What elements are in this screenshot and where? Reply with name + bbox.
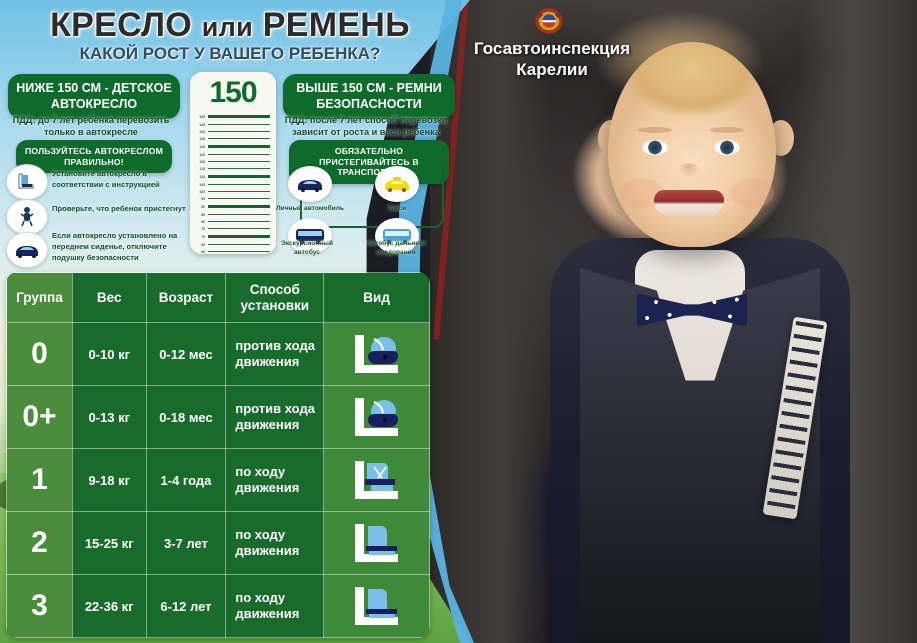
- cell-install: против хода движения: [226, 323, 324, 386]
- column-header-age: Возраст: [146, 273, 226, 323]
- ruler-ticks: 150 145 140 135 130 125 120 115 110 105 …: [190, 112, 276, 254]
- ruler-tick-label: 145: [196, 123, 205, 127]
- cell-group: 0: [7, 323, 73, 386]
- column-header-weight: Вес: [72, 273, 146, 323]
- child-brow-left: [638, 127, 672, 133]
- child-cheek-right: [730, 178, 774, 208]
- ruler-tick-label: 65: [196, 243, 205, 247]
- cell-view: [324, 323, 430, 386]
- ruler-tick-label: 130: [196, 145, 205, 149]
- ruler-value: 150: [190, 76, 276, 110]
- table-row: 3 22-36 кг 6-12 лет по ходу движения: [7, 575, 430, 638]
- ruler-tick-label: 110: [196, 175, 205, 179]
- ruler-tick-label: 60: [196, 250, 205, 254]
- height-ruler: 150 150 145 140 135 130 125 120 115 110 …: [190, 72, 276, 254]
- car-icon: [288, 166, 332, 202]
- left-headline-box: НИЖЕ 150 СМ - ДЕТСКОЕ АВТОКРЕСЛО: [8, 74, 180, 119]
- bullet-text-3: Если автокресло установлено на переднем …: [52, 230, 187, 263]
- cell-group: 1: [7, 449, 73, 512]
- cell-group: 0+: [7, 386, 73, 449]
- gibdd-emblem: [532, 4, 566, 38]
- buckled-child-icon: [6, 199, 48, 235]
- ruler-tick-label: 85: [196, 213, 205, 217]
- cell-view: [324, 512, 430, 575]
- ruler-tick-label: 135: [196, 137, 205, 141]
- cell-age: 1-4 года: [146, 449, 226, 512]
- cell-view: [324, 449, 430, 512]
- title-conjunction: или: [202, 12, 253, 42]
- cell-view: [324, 386, 430, 449]
- table-row: 0+ 0-13 кг 0-18 мес против хода движения: [7, 386, 430, 449]
- cell-view: [324, 575, 430, 638]
- car-front-icon: [6, 232, 48, 268]
- bullet-text-2: Проверьте, что ребенок пристегнут: [52, 203, 187, 214]
- column-header-view: Вид: [324, 273, 430, 323]
- ruler-tick-label: 80: [196, 220, 205, 224]
- poster-root: Госавтоинспекция Карелии КРЕСЛО или РЕМЕ…: [0, 0, 917, 643]
- cell-weight: 0-13 кг: [72, 386, 146, 449]
- forward-facing-booster-highback-icon: [341, 581, 413, 631]
- cell-weight: 15-25 кг: [72, 512, 146, 575]
- ruler-tick-label: 70: [196, 235, 205, 239]
- cell-age: 0-18 мес: [146, 386, 226, 449]
- ruler-tick-label: 125: [196, 153, 205, 157]
- child-in-car-seat-photo: [430, 0, 917, 643]
- table-row: 0 0-10 кг 0-12 мес против хода движения: [7, 323, 430, 386]
- forward-facing-harness-seat-icon: [341, 455, 413, 505]
- child-brow-right: [710, 127, 744, 133]
- table-row: 2 15-25 кг 3-7 лет по ходу движения: [7, 512, 430, 575]
- cell-age: 6-12 лет: [146, 575, 226, 638]
- page-subtitle: КАКОЙ РОСТ У ВАШЕГО РЕБЕНКА?: [0, 44, 460, 64]
- ruler-tick-label: 140: [196, 130, 205, 134]
- agency-line-2: Карелии: [516, 60, 588, 79]
- ruler-tick-label: 150: [196, 115, 205, 119]
- cell-weight: 22-36 кг: [72, 575, 146, 638]
- child-mouth: [654, 190, 724, 216]
- car-seat-icon: [6, 164, 48, 200]
- cell-install: по ходу движения: [226, 512, 324, 575]
- vehicle-label-coach-bus: Автобус дальнего следования: [357, 240, 435, 258]
- ruler-tick-label: 100: [196, 190, 205, 194]
- title-part-1: КРЕСЛО: [50, 6, 192, 44]
- vehicle-label-car: Личный автомобиль: [271, 205, 349, 214]
- bullet-text-1: Установите автокресло в соответствии с и…: [52, 168, 187, 190]
- right-headline-box: ВЫШЕ 150 СМ - РЕМНИ БЕЗОПАСНОСТИ: [283, 74, 455, 119]
- taxi-icon: [375, 166, 419, 202]
- page-title: КРЕСЛО или РЕМЕНЬ: [0, 6, 460, 45]
- table-row: 1 9-18 кг 1-4 года по ходу движения: [7, 449, 430, 512]
- cell-age: 3-7 лет: [146, 512, 226, 575]
- rear-facing-infant-seat-icon: [341, 329, 413, 379]
- child-eye-left: [642, 140, 668, 155]
- ruler-tick-label: 120: [196, 160, 205, 164]
- cell-install: против хода движения: [226, 386, 324, 449]
- cell-weight: 9-18 кг: [72, 449, 146, 512]
- child-nose: [678, 163, 700, 177]
- cell-install: по ходу движения: [226, 449, 324, 512]
- ruler-tick-label: 75: [196, 227, 205, 231]
- ruler-tick-label: 105: [196, 183, 205, 187]
- agency-line-1: Госавтоинспекция: [474, 39, 630, 58]
- cell-group: 3: [7, 575, 73, 638]
- cell-age: 0-12 мес: [146, 323, 226, 386]
- cell-install: по ходу движения: [226, 575, 324, 638]
- ruler-tick-label: 90: [196, 205, 205, 209]
- agency-name: Госавтоинспекция Карелии: [452, 38, 652, 81]
- forward-facing-booster-highback-icon: [341, 518, 413, 568]
- vehicle-label-taxi: Такси: [358, 205, 436, 214]
- cell-group: 2: [7, 512, 73, 575]
- vehicle-label-tour-bus: Экскурсионный автобус: [268, 240, 346, 258]
- cell-weight: 0-10 кг: [72, 323, 146, 386]
- column-header-install: Способ установки: [226, 273, 324, 323]
- left-note: ПДД: до 7 лет ребенка перевозить только …: [6, 114, 176, 139]
- table-header-row: Группа Вес Возраст Способ установки Вид: [7, 273, 430, 323]
- ruler-tick-label: 115: [196, 167, 205, 171]
- child-eye-right: [714, 140, 740, 155]
- title-part-2: РЕМЕНЬ: [263, 6, 410, 44]
- right-note: ПДД: после 7 лет способ перевозки зависи…: [281, 114, 451, 139]
- ruler-tick-label: 95: [196, 197, 205, 201]
- child-restraint-table: Группа Вес Возраст Способ установки Вид …: [6, 272, 430, 638]
- rear-facing-infant-seat-icon: [341, 392, 413, 442]
- column-header-group: Группа: [7, 273, 73, 323]
